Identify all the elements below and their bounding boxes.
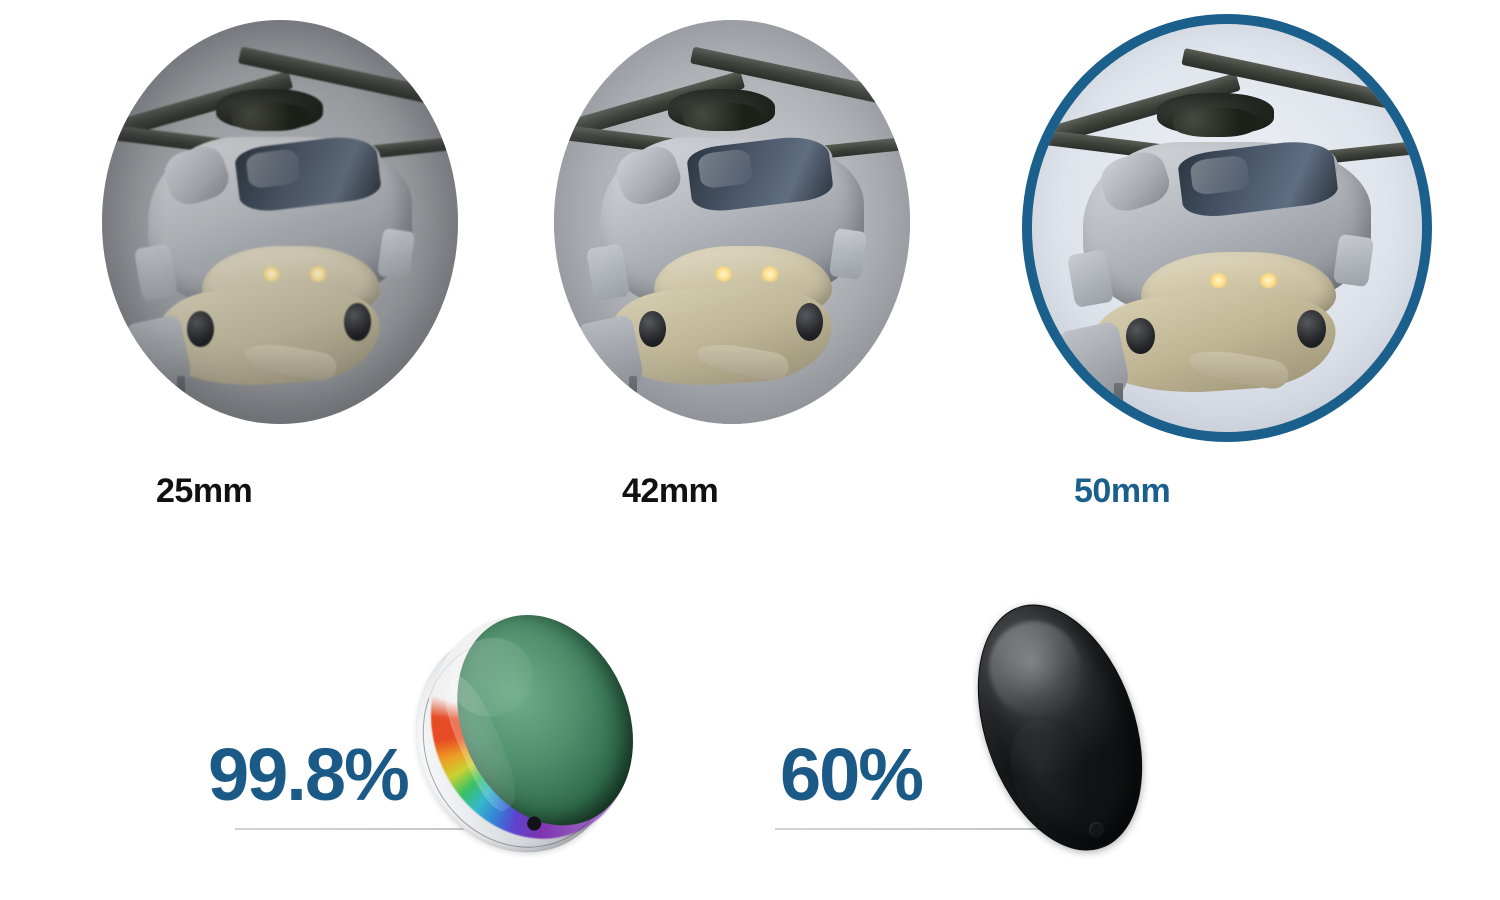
lens-marker-dot — [1089, 822, 1104, 837]
lens-size-comparison-section: 25mm — [0, 0, 1500, 540]
lens-view-42mm[interactable]: 42mm — [552, 12, 912, 532]
scope-circle-50mm-highlighted — [1022, 14, 1432, 442]
coated-lens-cell[interactable]: 99.8% — [180, 560, 820, 900]
weapon-pylon — [828, 228, 866, 280]
landing-wheel — [796, 303, 823, 341]
scope-circle-25mm — [102, 20, 458, 424]
landing-wheel — [344, 303, 371, 341]
weapon-pylon — [376, 228, 414, 280]
helicopter-scene-42mm — [554, 20, 910, 424]
uncoated-lens-cell[interactable]: 60% — [760, 560, 1400, 900]
landing-light — [262, 266, 281, 281]
rotor-hub — [1157, 93, 1274, 134]
landing-light — [308, 266, 327, 281]
helicopter-scene-50mm — [1032, 24, 1422, 432]
weapon-pylon — [1333, 234, 1375, 287]
helicopter-scene-25mm — [102, 20, 458, 424]
scope-view-42mm — [552, 12, 912, 432]
uncoated-lens-illustration — [985, 600, 1195, 865]
transmission-value-coated: 99.8% — [208, 738, 408, 812]
lens-disc-coated — [391, 581, 668, 874]
infographic-canvas: 25mm — [0, 0, 1500, 900]
lens-view-label-42mm: 42mm — [622, 472, 718, 511]
antenna-probe — [1114, 383, 1123, 432]
transmission-value-uncoated: 60% — [780, 738, 922, 812]
antenna-probe — [177, 376, 186, 424]
scope-circle-42mm — [554, 20, 910, 424]
scope-view-50mm — [1022, 12, 1382, 432]
scope-view-25mm — [100, 12, 460, 432]
antenna-probe — [629, 376, 638, 424]
multi-coated-lens-illustration — [430, 612, 660, 862]
landing-light — [1208, 273, 1229, 289]
lens-view-label-25mm: 25mm — [156, 472, 252, 511]
lens-view-50mm[interactable]: 50mm — [1022, 12, 1382, 532]
landing-light — [760, 266, 779, 281]
landing-wheel — [1126, 318, 1155, 355]
landing-light — [714, 266, 733, 281]
coating-comparison-section: 99.8% 60% — [0, 560, 1500, 900]
lens-view-label-50mm: 50mm — [1074, 472, 1170, 511]
rotor-hub — [216, 89, 323, 129]
lens-view-25mm[interactable]: 25mm — [100, 12, 460, 532]
rotor-hub — [668, 89, 775, 129]
